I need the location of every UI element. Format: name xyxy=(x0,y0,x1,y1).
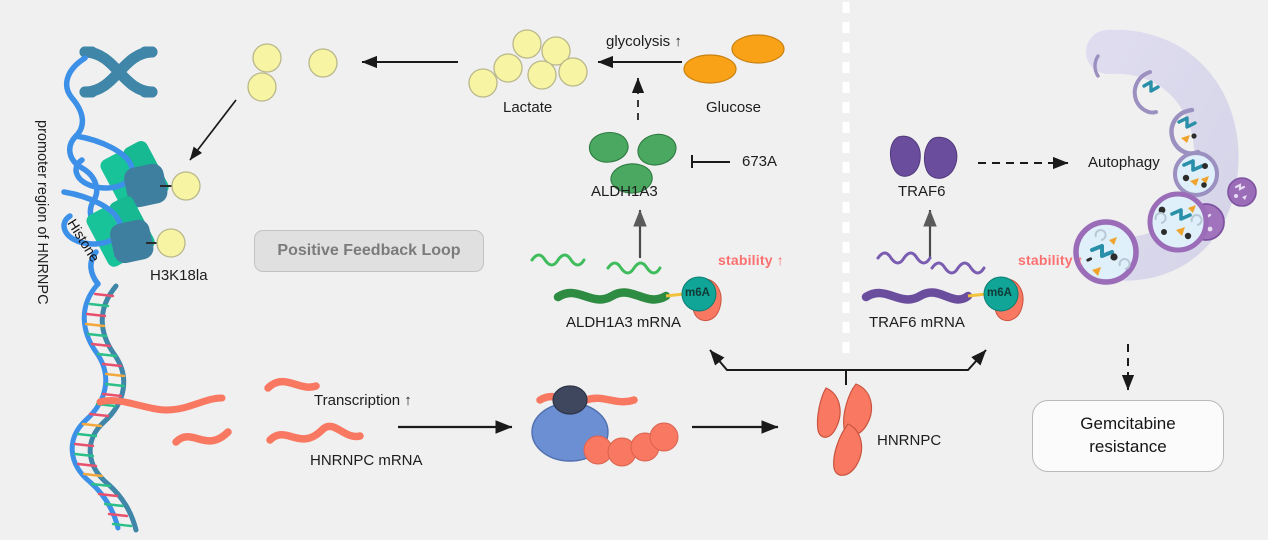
lactate-label: Lactate xyxy=(503,99,552,116)
gemcitabine-line-1: Gemcitabine xyxy=(1080,413,1175,436)
arrow-lactate-to-nucleus xyxy=(190,100,236,160)
aldh1a3-mrna-label: ALDH1A3 mRNA xyxy=(566,314,681,331)
chromosome-icon xyxy=(85,52,152,92)
traf6-mrna-label: TRAF6 mRNA xyxy=(869,314,965,331)
positive-feedback-loop-box: Positive Feedback Loop xyxy=(254,230,484,272)
hnrnpc-mrna-label: HNRNPC mRNA xyxy=(310,452,423,469)
autophagy-label: Autophagy xyxy=(1088,154,1160,171)
hnrnpc-mrna-squiggles xyxy=(176,382,360,442)
nucleosome-icon xyxy=(64,136,200,284)
inhibitor-673a-label: 673A xyxy=(742,153,777,170)
dna-double-helix-icon xyxy=(72,284,136,530)
m6a-right-label: m6A xyxy=(987,287,1012,300)
promoter-region-label: promoter region of HNRNPC xyxy=(34,120,50,305)
gemcitabine-line-2: resistance xyxy=(1089,436,1166,459)
hnrnpc-protein-icon xyxy=(817,384,871,475)
arrow-hnrnpc-to-mrnas xyxy=(710,350,986,385)
diagram-canvas: promoter region of HNRNPC Histone H3K18l… xyxy=(0,0,1268,540)
inhibition-bar-icon xyxy=(692,155,730,168)
gemcitabine-resistance-box: Gemcitabine resistance xyxy=(1032,400,1224,472)
transcription-label: Transcription ↑ xyxy=(314,392,412,409)
glucose-molecule-icon xyxy=(684,35,784,83)
hnrnpc-label: HNRNPC xyxy=(877,432,941,449)
lactate-molecule-icon xyxy=(248,44,337,101)
glycolysis-label: glycolysis ↑ xyxy=(606,33,682,50)
aldh1a3-label: ALDH1A3 xyxy=(591,183,658,200)
stability-left-label: stability ↑ xyxy=(718,252,784,268)
h3k18la-label: H3K18la xyxy=(150,267,208,284)
ribosome-icon xyxy=(532,386,678,466)
m6a-left-label: m6A xyxy=(685,287,710,300)
traf6-protein-icon xyxy=(890,136,956,178)
traf6-label: TRAF6 xyxy=(898,183,946,200)
stability-right-label: stability ↑ xyxy=(1018,252,1084,268)
lactate-cluster-icon xyxy=(469,30,587,97)
glucose-label: Glucose xyxy=(706,99,761,116)
